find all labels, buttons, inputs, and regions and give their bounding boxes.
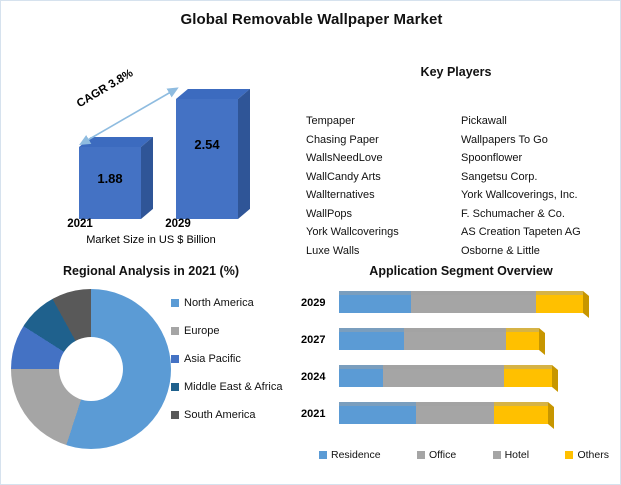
bar-2029-value: 2.54 bbox=[176, 137, 238, 152]
donut-hole bbox=[59, 337, 123, 401]
stacked-segment-top bbox=[383, 365, 504, 369]
stacked-track bbox=[339, 291, 583, 313]
stacked-row-2029: 2029 bbox=[301, 287, 616, 321]
stacked-segment bbox=[339, 406, 416, 424]
list-item: Spoonflower bbox=[461, 149, 581, 168]
application-segment-legend: Residence Office Hotel Others bbox=[319, 449, 609, 461]
legend-label: Asia Pacific bbox=[184, 352, 241, 366]
stacked-segment bbox=[339, 332, 404, 350]
legend-item-europe: Europe bbox=[171, 324, 296, 338]
bar-2021-value: 1.88 bbox=[79, 171, 141, 186]
application-segment-title: Application Segment Overview bbox=[311, 264, 611, 278]
stacked-segment-top bbox=[404, 328, 506, 332]
infographic-canvas: Global Removable Wallpaper Market 1.88 2… bbox=[0, 0, 621, 485]
stacked-segment-end bbox=[548, 402, 554, 429]
list-item: AS Creation Tapeten AG bbox=[461, 223, 581, 242]
list-item: F. Schumacher & Co. bbox=[461, 205, 581, 224]
axis-label-2021: 2021 bbox=[45, 218, 115, 230]
list-item: Sangetsu Corp. bbox=[461, 168, 581, 187]
stacked-segment-top bbox=[411, 291, 536, 295]
key-players-left-column: Tempaper Chasing Paper WallsNeedLove Wal… bbox=[306, 112, 399, 260]
regional-legend: North America Europe Asia Pacific Middle… bbox=[171, 296, 296, 436]
stacked-segment bbox=[494, 406, 547, 424]
stacked-segment-top bbox=[494, 402, 547, 406]
legend-item-office: Office bbox=[417, 449, 456, 461]
legend-label: Middle East & Africa bbox=[184, 380, 282, 394]
axis-label-2029: 2029 bbox=[143, 218, 213, 230]
key-players-right-column: Pickawall Wallpapers To Go Spoonflower S… bbox=[461, 112, 581, 260]
legend-swatch-icon bbox=[171, 355, 179, 363]
list-item: Tempaper bbox=[306, 112, 399, 131]
legend-swatch-icon bbox=[171, 411, 179, 419]
stacked-row-label: 2029 bbox=[301, 297, 333, 309]
legend-label: Residence bbox=[331, 449, 381, 461]
legend-item-hotel: Hotel bbox=[493, 449, 530, 461]
market-size-caption: Market Size in US $ Billion bbox=[31, 234, 271, 246]
stacked-segment bbox=[536, 295, 582, 313]
list-item: Osborne & Little bbox=[461, 242, 581, 261]
list-item: York Wallcoverings bbox=[306, 223, 399, 242]
stacked-row-2021: 2021 bbox=[301, 398, 616, 432]
legend-item-residence: Residence bbox=[319, 449, 381, 461]
legend-item-asia-pacific: Asia Pacific bbox=[171, 352, 296, 366]
legend-swatch-icon bbox=[319, 451, 327, 459]
list-item: WallCandy Arts bbox=[306, 168, 399, 187]
legend-swatch-icon bbox=[417, 451, 425, 459]
stacked-segment-top bbox=[339, 402, 416, 406]
stacked-segment bbox=[411, 295, 536, 313]
stacked-segment-top bbox=[339, 291, 411, 295]
stacked-segment-end bbox=[539, 328, 545, 355]
stacked-segment bbox=[339, 295, 411, 313]
list-item: Luxe Walls bbox=[306, 242, 399, 261]
stacked-row-2027: 2027 bbox=[301, 324, 616, 358]
stacked-segment-top bbox=[339, 365, 383, 369]
stacked-segment-top bbox=[536, 291, 582, 295]
stacked-segment-top bbox=[416, 402, 495, 406]
list-item: Wallpapers To Go bbox=[461, 131, 581, 150]
stacked-row-label: 2021 bbox=[301, 408, 333, 420]
legend-swatch-icon bbox=[171, 327, 179, 335]
regional-donut-chart bbox=[11, 289, 171, 449]
stacked-track bbox=[339, 402, 548, 424]
stacked-segment bbox=[506, 332, 538, 350]
list-item: WallsNeedLove bbox=[306, 149, 399, 168]
legend-label: South America bbox=[184, 408, 256, 422]
legend-label: Others bbox=[577, 449, 609, 461]
legend-swatch-icon bbox=[565, 451, 573, 459]
legend-label: North America bbox=[184, 296, 254, 310]
stacked-row-label: 2024 bbox=[301, 371, 333, 383]
legend-item-middle-east-africa: Middle East & Africa bbox=[171, 380, 296, 394]
stacked-segment-top bbox=[506, 328, 538, 332]
list-item: Chasing Paper bbox=[306, 131, 399, 150]
legend-swatch-icon bbox=[171, 383, 179, 391]
stacked-segment-end bbox=[552, 365, 558, 392]
stacked-row-2024: 2024 bbox=[301, 361, 616, 395]
page-title: Global Removable Wallpaper Market bbox=[1, 11, 621, 28]
stacked-segment bbox=[416, 406, 495, 424]
legend-item-south-america: South America bbox=[171, 408, 296, 422]
list-item: WallPops bbox=[306, 205, 399, 224]
legend-label: Office bbox=[429, 449, 456, 461]
stacked-track bbox=[339, 365, 552, 387]
stacked-segment bbox=[404, 332, 506, 350]
stacked-track bbox=[339, 328, 539, 350]
legend-swatch-icon bbox=[171, 299, 179, 307]
legend-label: Europe bbox=[184, 324, 219, 338]
list-item: York Wallcoverings, Inc. bbox=[461, 186, 581, 205]
list-item: Wallternatives bbox=[306, 186, 399, 205]
key-players-title: Key Players bbox=[301, 65, 611, 79]
legend-item-north-america: North America bbox=[171, 296, 296, 310]
stacked-segment bbox=[504, 369, 553, 387]
legend-label: Hotel bbox=[505, 449, 530, 461]
stacked-segment-top bbox=[339, 328, 404, 332]
regional-analysis-title: Regional Analysis in 2021 (%) bbox=[16, 264, 286, 278]
stacked-row-label: 2027 bbox=[301, 334, 333, 346]
legend-item-others: Others bbox=[565, 449, 609, 461]
application-segment-chart: 2029 2027 2024 2021 bbox=[301, 287, 616, 442]
legend-swatch-icon bbox=[493, 451, 501, 459]
stacked-segment bbox=[339, 369, 383, 387]
stacked-segment-top bbox=[504, 365, 553, 369]
list-item: Pickawall bbox=[461, 112, 581, 131]
stacked-segment bbox=[383, 369, 504, 387]
stacked-segment-end bbox=[583, 291, 589, 318]
